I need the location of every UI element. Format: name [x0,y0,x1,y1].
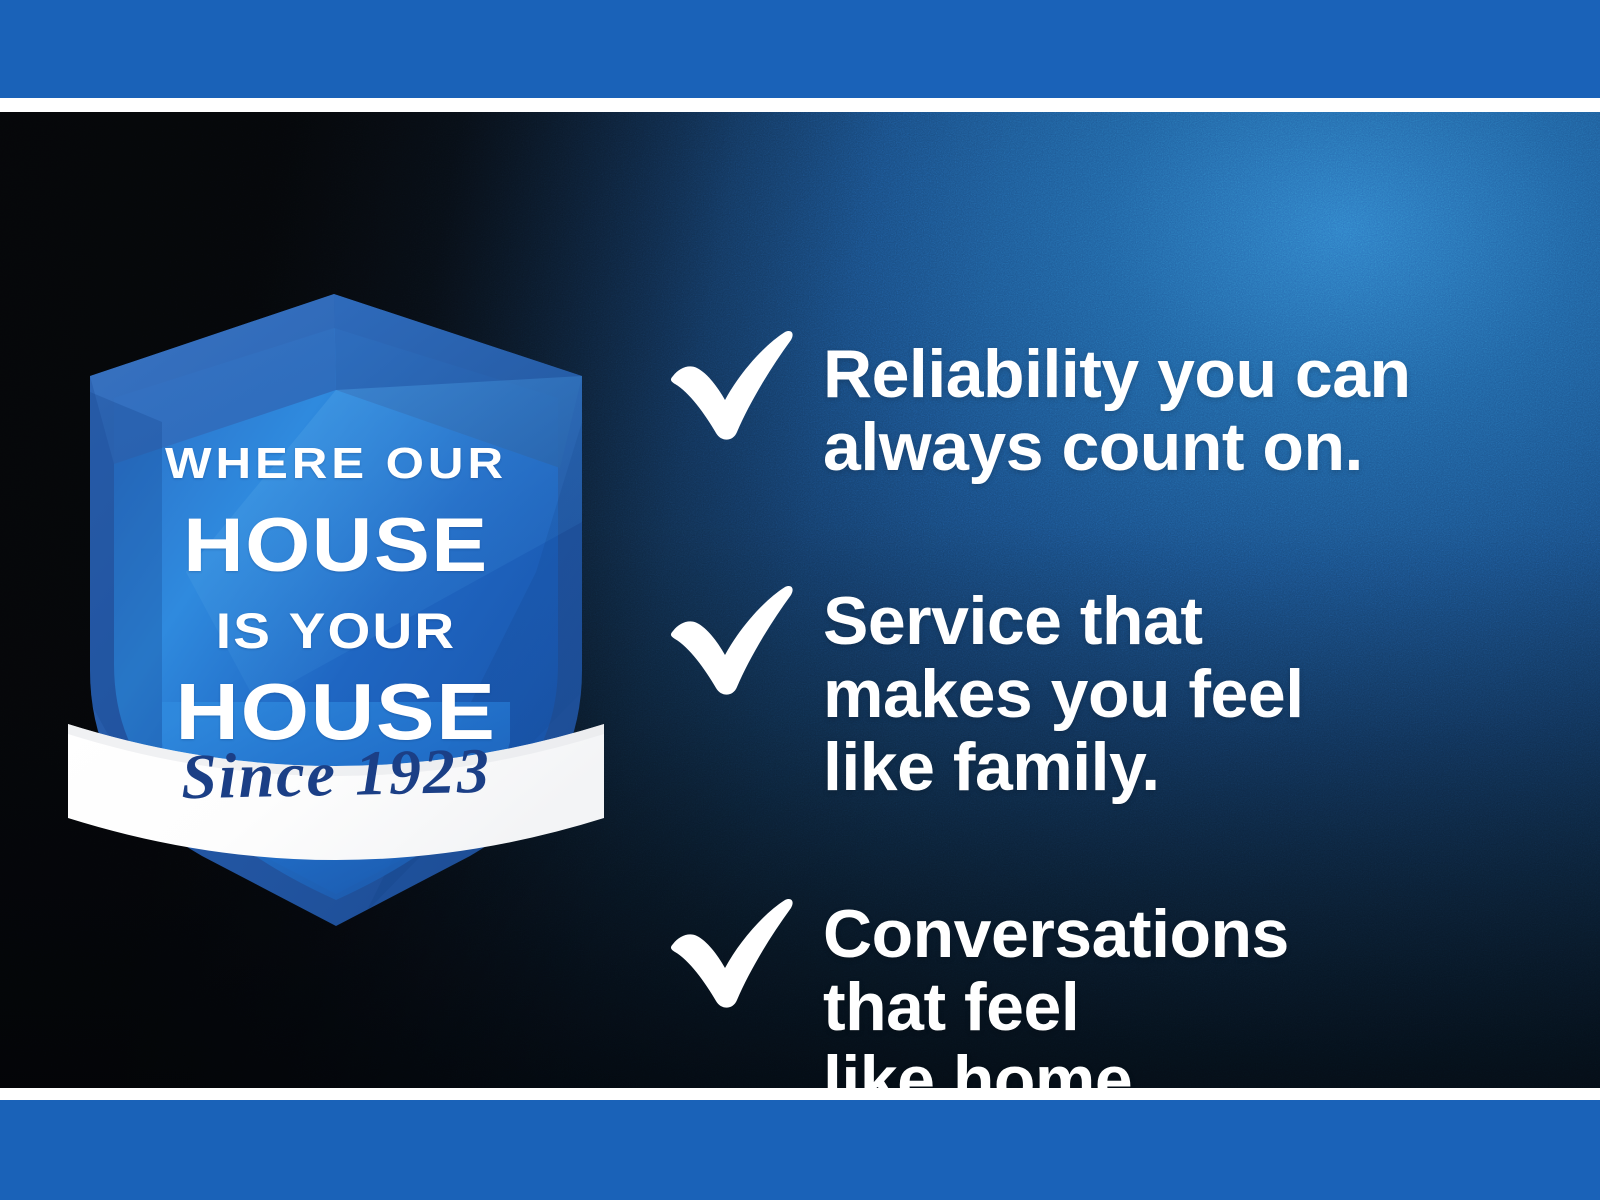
promo-graphic: WHERE OUR HOUSE IS YOUR HOUSE Since 1923… [0,0,1600,1200]
benefit-text: Reliability you can always count on. [823,324,1411,484]
checkmark-icon [665,892,795,1010]
benefit-item-service: Service that makes you feel like family. [665,579,1304,803]
benefit-text: Conversations that feel like home. [823,892,1289,1088]
top-brand-bar [0,0,1600,98]
benefit-text: Service that makes you feel like family. [823,579,1304,803]
benefit-item-conversations: Conversations that feel like home. [665,892,1289,1088]
benefit-item-reliability: Reliability you can always count on. [665,324,1411,484]
company-shield-logo: WHERE OUR HOUSE IS YOUR HOUSE Since 1923 [66,272,606,932]
benefits-list: Reliability you can always count on. Ser… [665,224,1545,1088]
checkmark-icon [665,324,795,442]
bottom-brand-bar [0,1100,1600,1200]
artwork-panel: WHERE OUR HOUSE IS YOUR HOUSE Since 1923… [0,112,1600,1088]
checkmark-icon [665,579,795,697]
